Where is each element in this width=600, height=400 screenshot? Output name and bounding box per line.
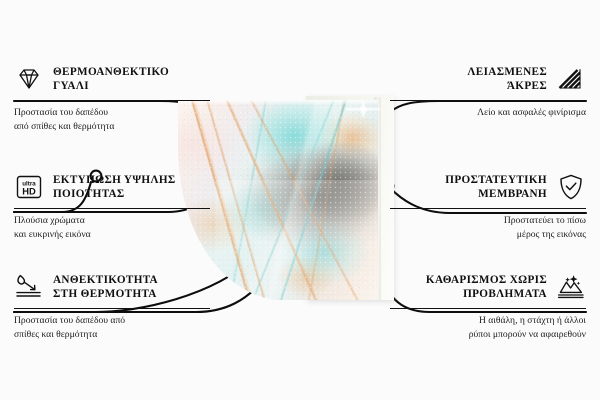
feature-protective-membrane: ΠΡΟΣΤΑΤΕΥΤΙΚΗ ΜΕΜΒΡΑΝΗ Προστατεύει το πί… bbox=[390, 170, 586, 241]
feature-header: ΚΑΘΑΡΙΣΜΟΣ ΧΩΡΙΣ ΠΡΟΒΛΗΜΑΤΑ bbox=[390, 270, 586, 304]
feature-divider bbox=[14, 100, 210, 101]
feature-easy-cleaning: ΚΑΘΑΡΙΣΜΟΣ ΧΩΡΙΣ ΠΡΟΒΛΗΜΑΤΑ Η αι bbox=[390, 270, 586, 341]
feature-description: Η αιθάλη, η στάχτη ή άλλοι ρύποι μπορούν… bbox=[390, 314, 586, 341]
svg-text:HD: HD bbox=[22, 185, 36, 196]
feature-title: ΘΕΡΜΟΑΝΘΕΚΤΙΚΟ ΓΥΑΛΙ bbox=[53, 65, 169, 94]
feature-divider bbox=[390, 100, 586, 101]
cleaning-sparkle-icon bbox=[556, 272, 586, 302]
feature-high-quality-print: ultra HD ΕΚΤΥΠΩΣΗ ΥΨΗΛΗΣ ΠΟΙΟΤΗΤΑΣ Πλούσ… bbox=[14, 170, 210, 241]
infographic-canvas: ΘΕΡΜΟΑΝΘΕΚΤΙΚΟ ΓΥΑΛΙ Προστασία του δαπέδ… bbox=[0, 0, 600, 400]
feature-description: Προστασία του δαπέδου από σπίθες και θερ… bbox=[14, 314, 210, 341]
feature-header: ΠΡΟΣΤΑΤΕΥΤΙΚΗ ΜΕΜΒΡΑΝΗ bbox=[390, 170, 586, 204]
feature-description: Προστατεύει το πίσω μέρος της εικόνας bbox=[390, 214, 586, 241]
feature-divider bbox=[14, 308, 210, 309]
feature-description: Λείο και ασφαλές φινίρισμα bbox=[390, 106, 586, 120]
feature-description: Προστασία του δαπέδου από σπίθες και θερ… bbox=[14, 106, 210, 133]
feature-smooth-edges: ΛΕΙΑΣΜΕΝΕΣ ΆΚΡΕΣ Λείο και ασφαλές φινίρι… bbox=[390, 62, 586, 120]
feature-heat-durability: ΑΝΘΕΚΤΙΚΟΤΗΤΑ ΣΤΗ ΘΕΡΜΟΤΗΤΑ Προστασία το… bbox=[14, 270, 210, 341]
feature-title: ΠΡΟΣΤΑΤΕΥΤΙΚΗ ΜΕΜΒΡΑΝΗ bbox=[445, 173, 547, 202]
shield-check-icon bbox=[556, 172, 586, 202]
feature-title: ΑΝΘΕΚΤΙΚΟΤΗΤΑ ΣΤΗ ΘΕΡΜΟΤΗΤΑ bbox=[53, 273, 158, 302]
feature-heat-resistant-glass: ΘΕΡΜΟΑΝΘΕΚΤΙΚΟ ΓΥΑΛΙ Προστασία του δαπέδ… bbox=[14, 62, 210, 133]
feature-divider bbox=[14, 208, 210, 209]
ultra-hd-icon: ultra HD bbox=[14, 172, 44, 202]
feature-title: ΛΕΙΑΣΜΕΝΕΣ ΆΚΡΕΣ bbox=[467, 65, 547, 94]
heat-resistance-icon bbox=[14, 272, 44, 302]
feature-header: ΘΕΡΜΟΑΝΘΕΚΤΙΚΟ ΓΥΑΛΙ bbox=[14, 62, 210, 96]
feature-divider bbox=[390, 208, 586, 209]
smooth-edges-icon bbox=[556, 64, 586, 94]
feature-header: ΑΝΘΕΚΤΙΚΟΤΗΤΑ ΣΤΗ ΘΕΡΜΟΤΗΤΑ bbox=[14, 270, 210, 304]
feature-title: ΚΑΘΑΡΙΣΜΟΣ ΧΩΡΙΣ ΠΡΟΒΛΗΜΑΤΑ bbox=[426, 273, 547, 302]
product-image bbox=[178, 96, 412, 308]
diamond-icon bbox=[14, 64, 44, 94]
feature-divider bbox=[390, 308, 586, 309]
feature-header: ultra HD ΕΚΤΥΠΩΣΗ ΥΨΗΛΗΣ ΠΟΙΟΤΗΤΑΣ bbox=[14, 170, 210, 204]
feature-header: ΛΕΙΑΣΜΕΝΕΣ ΆΚΡΕΣ bbox=[390, 62, 586, 96]
feature-description: Πλούσια χρώματα και ευκρινής εικόνα bbox=[14, 214, 210, 241]
feature-title: ΕΚΤΥΠΩΣΗ ΥΨΗΛΗΣ ΠΟΙΟΤΗΤΑΣ bbox=[53, 173, 176, 202]
